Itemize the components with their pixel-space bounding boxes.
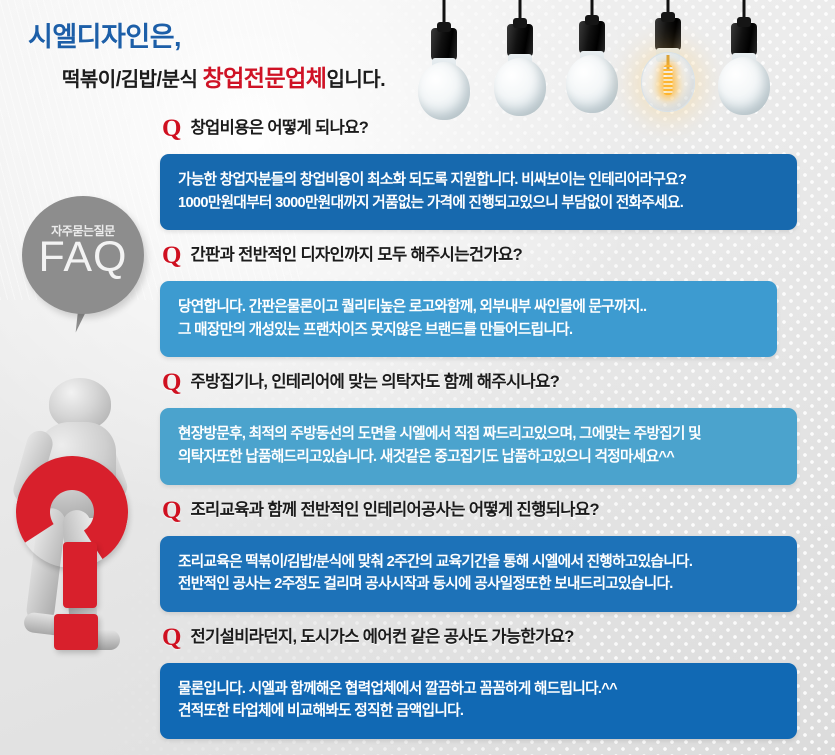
faq-answer-line: 당연합니다. 간판은물론이고 퀄리티높은 로고와함께, 외부내부 싸인몰에 문구… xyxy=(178,296,759,319)
faq-answer-box: 조리교육은 떡볶이/김밥/분식에 맞춰 2주간의 교육기간을 통해 시엘에서 진… xyxy=(160,536,797,612)
faq-item[interactable]: Q 주방집기나, 인테리어에 맞는 의탁자도 함께 해주시나요? 현장방문후, … xyxy=(160,372,800,484)
faq-answer-box: 현장방문후, 최적의 주방동선의 도면을 시엘에서 직접 짜드리고있으며, 그에… xyxy=(160,408,797,484)
faq-item[interactable]: Q 간판과 전반적인 디자인까지 모두 해주시는건가요? 당연합니다. 간판은물… xyxy=(160,245,800,357)
question-mark-icon xyxy=(16,456,140,636)
page-subtitle: 떡볶이/김밥/분식 창업전문업체입니다. xyxy=(62,59,385,93)
faq-question-row[interactable]: Q 주방집기나, 인테리어에 맞는 의탁자도 함께 해주시나요? xyxy=(160,372,800,397)
subtitle-accent: 창업전문업체 xyxy=(202,65,326,91)
faq-question-text: 간판과 전반적인 디자인까지 모두 해주시는건가요? xyxy=(190,245,522,266)
faq-item[interactable]: Q 창업비용은 어떻게 되나요? 가능한 창업자분들의 창업비용이 최소화 되도… xyxy=(160,118,800,230)
faq-answer-line: 그 매장만의 개성있는 프랜차이즈 못지않은 브랜드를 만들어드립니다. xyxy=(178,319,759,342)
question-mark-q-icon: Q xyxy=(162,116,181,141)
faq-answer-line: 현장방문후, 최적의 주방동선의 도면을 시엘에서 직접 짜드리고있으며, 그에… xyxy=(178,423,779,446)
faq-badge-title: FAQ xyxy=(22,236,144,279)
faq-question-text: 주방집기나, 인테리어에 맞는 의탁자도 함께 해주시나요? xyxy=(190,372,559,393)
page-title: 시엘디자인은, xyxy=(28,22,385,53)
faq-answer-box: 가능한 창업자분들의 창업비용이 최소화 되도록 지원합니다. 비싸보이는 인테… xyxy=(160,154,797,230)
faq-page: 시엘디자인은, 떡볶이/김밥/분식 창업전문업체입니다. xyxy=(0,0,835,755)
question-mark-q-icon: Q xyxy=(162,625,181,650)
page-header: 시엘디자인은, 떡볶이/김밥/분식 창업전문업체입니다. xyxy=(28,22,385,93)
faq-question-text: 전기설비라던지, 도시가스 에어컨 같은 공사도 가능한가요? xyxy=(190,627,573,648)
faq-question-text: 조리교육과 함께 전반적인 인테리어공사는 어떻게 진행되나요? xyxy=(190,500,598,521)
subtitle-prefix: 떡볶이/김밥/분식 xyxy=(62,69,202,91)
faq-answer-line: 가능한 창업자분들의 창업비용이 최소화 되도록 지원합니다. 비싸보이는 인테… xyxy=(178,169,779,192)
question-mark-q-icon: Q xyxy=(162,498,181,523)
faq-list: Q 창업비용은 어떻게 되나요? 가능한 창업자분들의 창업비용이 최소화 되도… xyxy=(160,118,800,739)
faq-answer-line: 전반적인 공사는 2주정도 걸리며 공사시작과 동시에 공사일정또한 보내드리고… xyxy=(178,573,779,596)
hanging-bulbs-decoration xyxy=(432,0,835,132)
faq-answer-line: 견적또한 타업체에 비교해봐도 정직한 금액입니다. xyxy=(178,700,779,723)
faq-answer-box: 물론입니다. 시엘과 함께해온 협력업체에서 깔끔하고 꼼꼼하게 해드립니다.^… xyxy=(160,663,797,739)
faq-question-row[interactable]: Q 간판과 전반적인 디자인까지 모두 해주시는건가요? xyxy=(160,245,800,270)
faq-question-text: 창업비용은 어떻게 되나요? xyxy=(190,118,368,139)
subtitle-suffix: 입니다. xyxy=(326,69,385,91)
faq-item[interactable]: Q 조리교육과 함께 전반적인 인테리어공사는 어떻게 진행되나요? 조리교육은… xyxy=(160,500,800,612)
faq-question-row[interactable]: Q 전기설비라던지, 도시가스 에어컨 같은 공사도 가능한가요? xyxy=(160,627,800,652)
faq-question-row[interactable]: Q 창업비용은 어떻게 되나요? xyxy=(160,118,800,143)
faq-answer-box: 당연합니다. 간판은물론이고 퀄리티높은 로고와함께, 외부내부 싸인몰에 문구… xyxy=(160,281,777,357)
faq-badge: 자주묻는질문 FAQ xyxy=(22,196,144,314)
faq-answer-line: 의탁자또한 납품해드리고있습니다. 새것같은 중고집기도 납품하고있으니 걱정마… xyxy=(178,446,779,469)
question-mark-q-icon: Q xyxy=(162,370,181,395)
faq-answer-line: 물론입니다. 시엘과 함께해온 협력업체에서 깔끔하고 꼼꼼하게 해드립니다.^… xyxy=(178,678,779,701)
faq-question-row[interactable]: Q 조리교육과 함께 전반적인 인테리어공사는 어떻게 진행되나요? xyxy=(160,500,800,525)
question-mark-q-icon: Q xyxy=(162,243,181,268)
faq-answer-line: 조리교육은 떡볶이/김밥/분식에 맞춰 2주간의 교육기간을 통해 시엘에서 진… xyxy=(178,551,779,574)
faq-item[interactable]: Q 전기설비라던지, 도시가스 에어컨 같은 공사도 가능한가요? 물론입니다.… xyxy=(160,627,800,739)
thinking-person-illustration xyxy=(2,378,164,660)
faq-answer-line: 1000만원대부터 3000만원대까지 거품없는 가격에 진행되고있으니 부담없… xyxy=(178,192,779,215)
